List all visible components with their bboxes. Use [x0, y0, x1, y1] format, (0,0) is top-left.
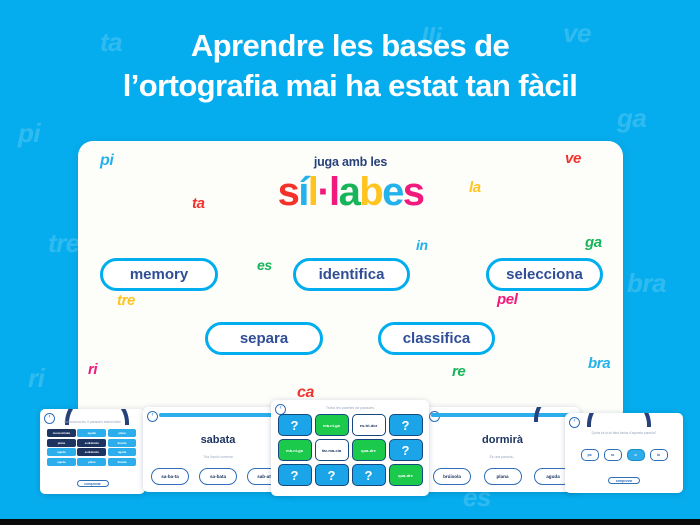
logo-letter-0: s: [278, 172, 299, 212]
grid-cell[interactable]: esdrúixola: [77, 439, 106, 447]
decorative-syllable: ri: [88, 361, 97, 378]
logo-letter-5: a: [339, 172, 360, 212]
grid-cell[interactable]: aguda: [77, 429, 106, 437]
decorative-syllable: re: [452, 363, 465, 380]
decorative-syllable: ve: [565, 150, 581, 167]
memory-card[interactable]: ?: [389, 414, 423, 436]
background-syllable: pi: [18, 118, 40, 149]
grid-cell[interactable]: plana: [77, 458, 106, 466]
submit-button[interactable]: comprovar: [608, 477, 640, 484]
option-chip[interactable]: brúixola: [433, 468, 471, 485]
memory-card[interactable]: far-ma-cia: [315, 439, 349, 461]
background-syllable: ri: [28, 363, 44, 394]
logo-letter-3: ·: [317, 172, 329, 212]
question-text: Quina és la síl·laba tònica d’aquesta pa…: [565, 431, 683, 435]
background-syllable: tre: [48, 228, 80, 259]
grid-cell[interactable]: monosíl·laba: [47, 429, 76, 437]
syllable-chip[interactable]: la: [650, 449, 668, 461]
logo-letter-6: b: [359, 172, 382, 212]
decorative-syllable: in: [416, 237, 428, 253]
selecciona-screen: ‹Quina és la síl·laba tònica d’aquesta p…: [565, 413, 683, 493]
logo-letter-2: l: [308, 172, 318, 212]
decorative-syllable: tre: [117, 292, 135, 309]
decorative-syllable: ga: [585, 234, 602, 251]
memory-card[interactable]: ?: [352, 464, 386, 486]
syllable-chip[interactable]: u: [627, 449, 645, 461]
background-syllable: ga: [617, 103, 646, 134]
grid-cell[interactable]: plana: [108, 429, 137, 437]
memory-card[interactable]: qua-dre: [352, 439, 386, 461]
grid-cell[interactable]: llaneta: [108, 458, 137, 466]
grid-cell[interactable]: plana: [47, 439, 76, 447]
grid-cell[interactable]: aguda: [47, 458, 76, 466]
back-icon[interactable]: ‹: [569, 417, 580, 428]
menu-button-selecciona[interactable]: selecciona: [486, 258, 603, 291]
decorative-syllable: es: [257, 257, 272, 273]
footer-band: [0, 519, 700, 525]
option-chip[interactable]: plana: [484, 468, 522, 485]
progress-bar: [159, 413, 285, 417]
decorative-syllable: pel: [497, 291, 517, 308]
promo-banner: tallivegapitrebraribleclees Aprendre les…: [0, 0, 700, 525]
page-title: Aprendre les bases de l’ortografia mai h…: [0, 26, 700, 107]
memory-card[interactable]: ?: [278, 464, 312, 486]
classifica-screen: ‹Selecciona les 4 paraules esdrúixolesmo…: [40, 409, 145, 494]
memory-card[interactable]: ?: [389, 439, 423, 461]
decorative-syllable: la: [469, 179, 481, 196]
logo-letter-8: s: [403, 172, 424, 212]
prompt-text: Troba les parelles de paraules: [271, 406, 429, 410]
word-prompt: dormirà: [425, 434, 580, 446]
memory-card[interactable]: mà-ni-ga: [315, 414, 349, 436]
background-syllable: bra: [627, 268, 666, 299]
memory-card[interactable]: es-tri-dor: [352, 414, 386, 436]
app-logo: juga amb les síl·labes: [78, 155, 623, 212]
tab-handle: [587, 413, 651, 427]
memory-screen: ‹Troba les parelles de paraules?mà-ni-ga…: [271, 400, 429, 496]
grid-cell[interactable]: aguda: [108, 448, 137, 456]
decorative-syllable: ta: [192, 195, 205, 212]
syllable-chip[interactable]: ra: [604, 449, 622, 461]
menu-button-classifica[interactable]: classifica: [378, 322, 495, 355]
grid-cell[interactable]: aguda: [47, 448, 76, 456]
memory-card[interactable]: mà-ni-ga: [278, 439, 312, 461]
submit-button[interactable]: comprovar: [77, 480, 109, 487]
logo-tagline: juga amb les: [78, 155, 623, 169]
menu-button-memory[interactable]: memory: [100, 258, 218, 291]
menu-button-separa[interactable]: separa: [205, 322, 323, 355]
logo-wordmark: síl·labes: [78, 172, 623, 212]
headline-line-1: Aprendre les bases de: [191, 28, 509, 63]
prompt-text: Selecciona les 4 paraules esdrúixoles: [40, 420, 145, 424]
memory-card[interactable]: qua-dre: [389, 464, 423, 486]
decorative-syllable: pi: [100, 152, 113, 170]
syllable-chip[interactable]: pa: [581, 449, 599, 461]
memory-card[interactable]: ?: [315, 464, 349, 486]
logo-letter-1: í: [298, 172, 308, 212]
identifica-screen: ‹dormiràÉs una paraula...brúixolaplanaag…: [425, 407, 580, 492]
decorative-syllable: bra: [588, 355, 610, 372]
logo-letter-4: l: [329, 172, 339, 212]
memory-card[interactable]: ?: [278, 414, 312, 436]
grid-cell[interactable]: esdrúixola: [77, 448, 106, 456]
menu-button-identifica[interactable]: identifica: [293, 258, 410, 291]
headline-line-2: l’ortografia mai ha estat tan fàcil: [0, 66, 700, 106]
grid-cell[interactable]: llaneta: [108, 439, 137, 447]
option-chip[interactable]: sa-bata: [199, 468, 237, 485]
back-icon[interactable]: ‹: [147, 411, 158, 422]
logo-letter-7: e: [382, 172, 403, 212]
instruction-text: És una paraula...: [425, 455, 580, 459]
option-chip[interactable]: sa-ba-ta: [151, 468, 189, 485]
